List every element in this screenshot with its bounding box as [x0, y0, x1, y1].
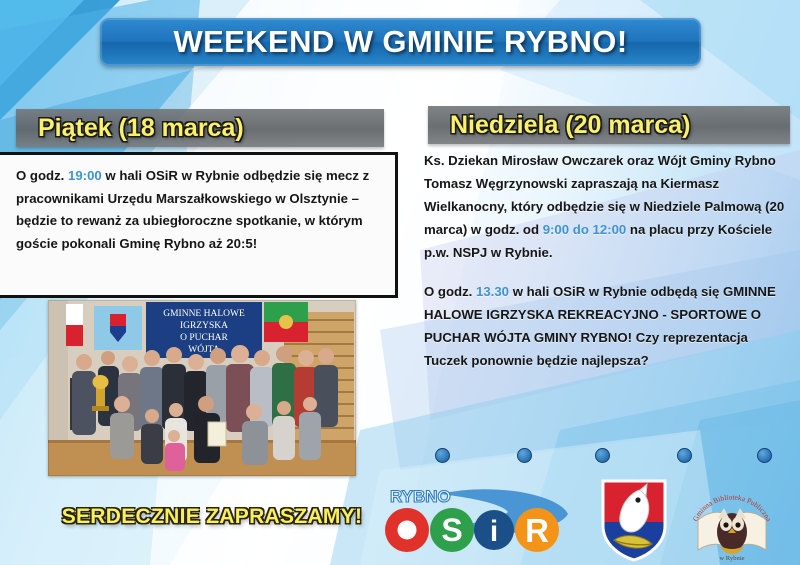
library-logo-bottom-text: w Rybnie	[719, 555, 744, 562]
library-logo-image: Gminna Biblioteka Publiczna w Rybnie	[684, 480, 780, 562]
day-header-friday: Piątek (18 marca)	[16, 109, 384, 147]
sunday-paragraph-2: O godz. 13.30 w hali OSiR w Rybnie odbęd…	[424, 281, 794, 373]
svg-text:i: i	[490, 515, 498, 548]
sunday-text-column: Ks. Dziekan Mirosław Owczarek oraz Wójt …	[424, 150, 794, 373]
call-to-action-text: SERDECZNIE ZAPRASZAMY!	[52, 505, 372, 529]
logo-coat-of-arms	[600, 478, 668, 562]
friday-paragraph: O godz. 19:00 w hali OSiR w Rybnie odbęd…	[0, 155, 395, 256]
group-photo-image: GMINNE HALOWE IGRZYSKA O PUCHAR WÓJTA	[48, 300, 356, 476]
page-title: WEEKEND W GMINIE RYBNO!	[173, 24, 627, 60]
svg-text:S: S	[441, 512, 462, 548]
sunday-paragraph-1: Ks. Dziekan Mirosław Owczarek oraz Wójt …	[424, 150, 794, 265]
svg-text:GMINNE HALOWE: GMINNE HALOWE	[163, 309, 245, 319]
decorative-dot	[435, 448, 450, 463]
time-highlight: 9:00 do 12:00	[543, 222, 627, 237]
svg-text:R: R	[525, 512, 549, 549]
poster-title-banner: WEEKEND W GMINIE RYBNO!	[100, 18, 701, 66]
coat-of-arms-image	[600, 478, 668, 562]
decorative-dot	[677, 448, 692, 463]
time-highlight: 13.30	[476, 284, 509, 299]
friday-text-panel: O godz. 19:00 w hali OSiR w Rybnie odbęd…	[0, 152, 398, 298]
decorative-dot	[595, 448, 610, 463]
svg-text:IGRZYSKA: IGRZYSKA	[180, 321, 228, 331]
svg-text:O PUCHAR: O PUCHAR	[180, 333, 228, 343]
logo-library: Gminna Biblioteka Publiczna w Rybnie	[684, 480, 780, 562]
text-run: O godz.	[424, 284, 476, 299]
decorative-dot	[517, 448, 532, 463]
day-header-sunday: Niedziela (20 marca)	[428, 106, 790, 144]
osir-logo-image: RYBNO S i R	[382, 480, 578, 552]
osir-wordmark-rybno: RYBNO	[390, 487, 451, 506]
group-photo: GMINNE HALOWE IGRZYSKA O PUCHAR WÓJTA	[48, 300, 356, 476]
decorative-dot	[757, 448, 772, 463]
day-title-friday: Piątek (18 marca)	[38, 114, 244, 143]
poster-canvas: WEEKEND W GMINIE RYBNO! Piątek (18 marca…	[0, 0, 800, 565]
time-highlight: 19:00	[68, 168, 102, 183]
logo-osir: RYBNO S i R	[382, 480, 578, 552]
text-run: O godz.	[16, 168, 68, 183]
day-title-sunday: Niedziela (20 marca)	[450, 111, 690, 140]
